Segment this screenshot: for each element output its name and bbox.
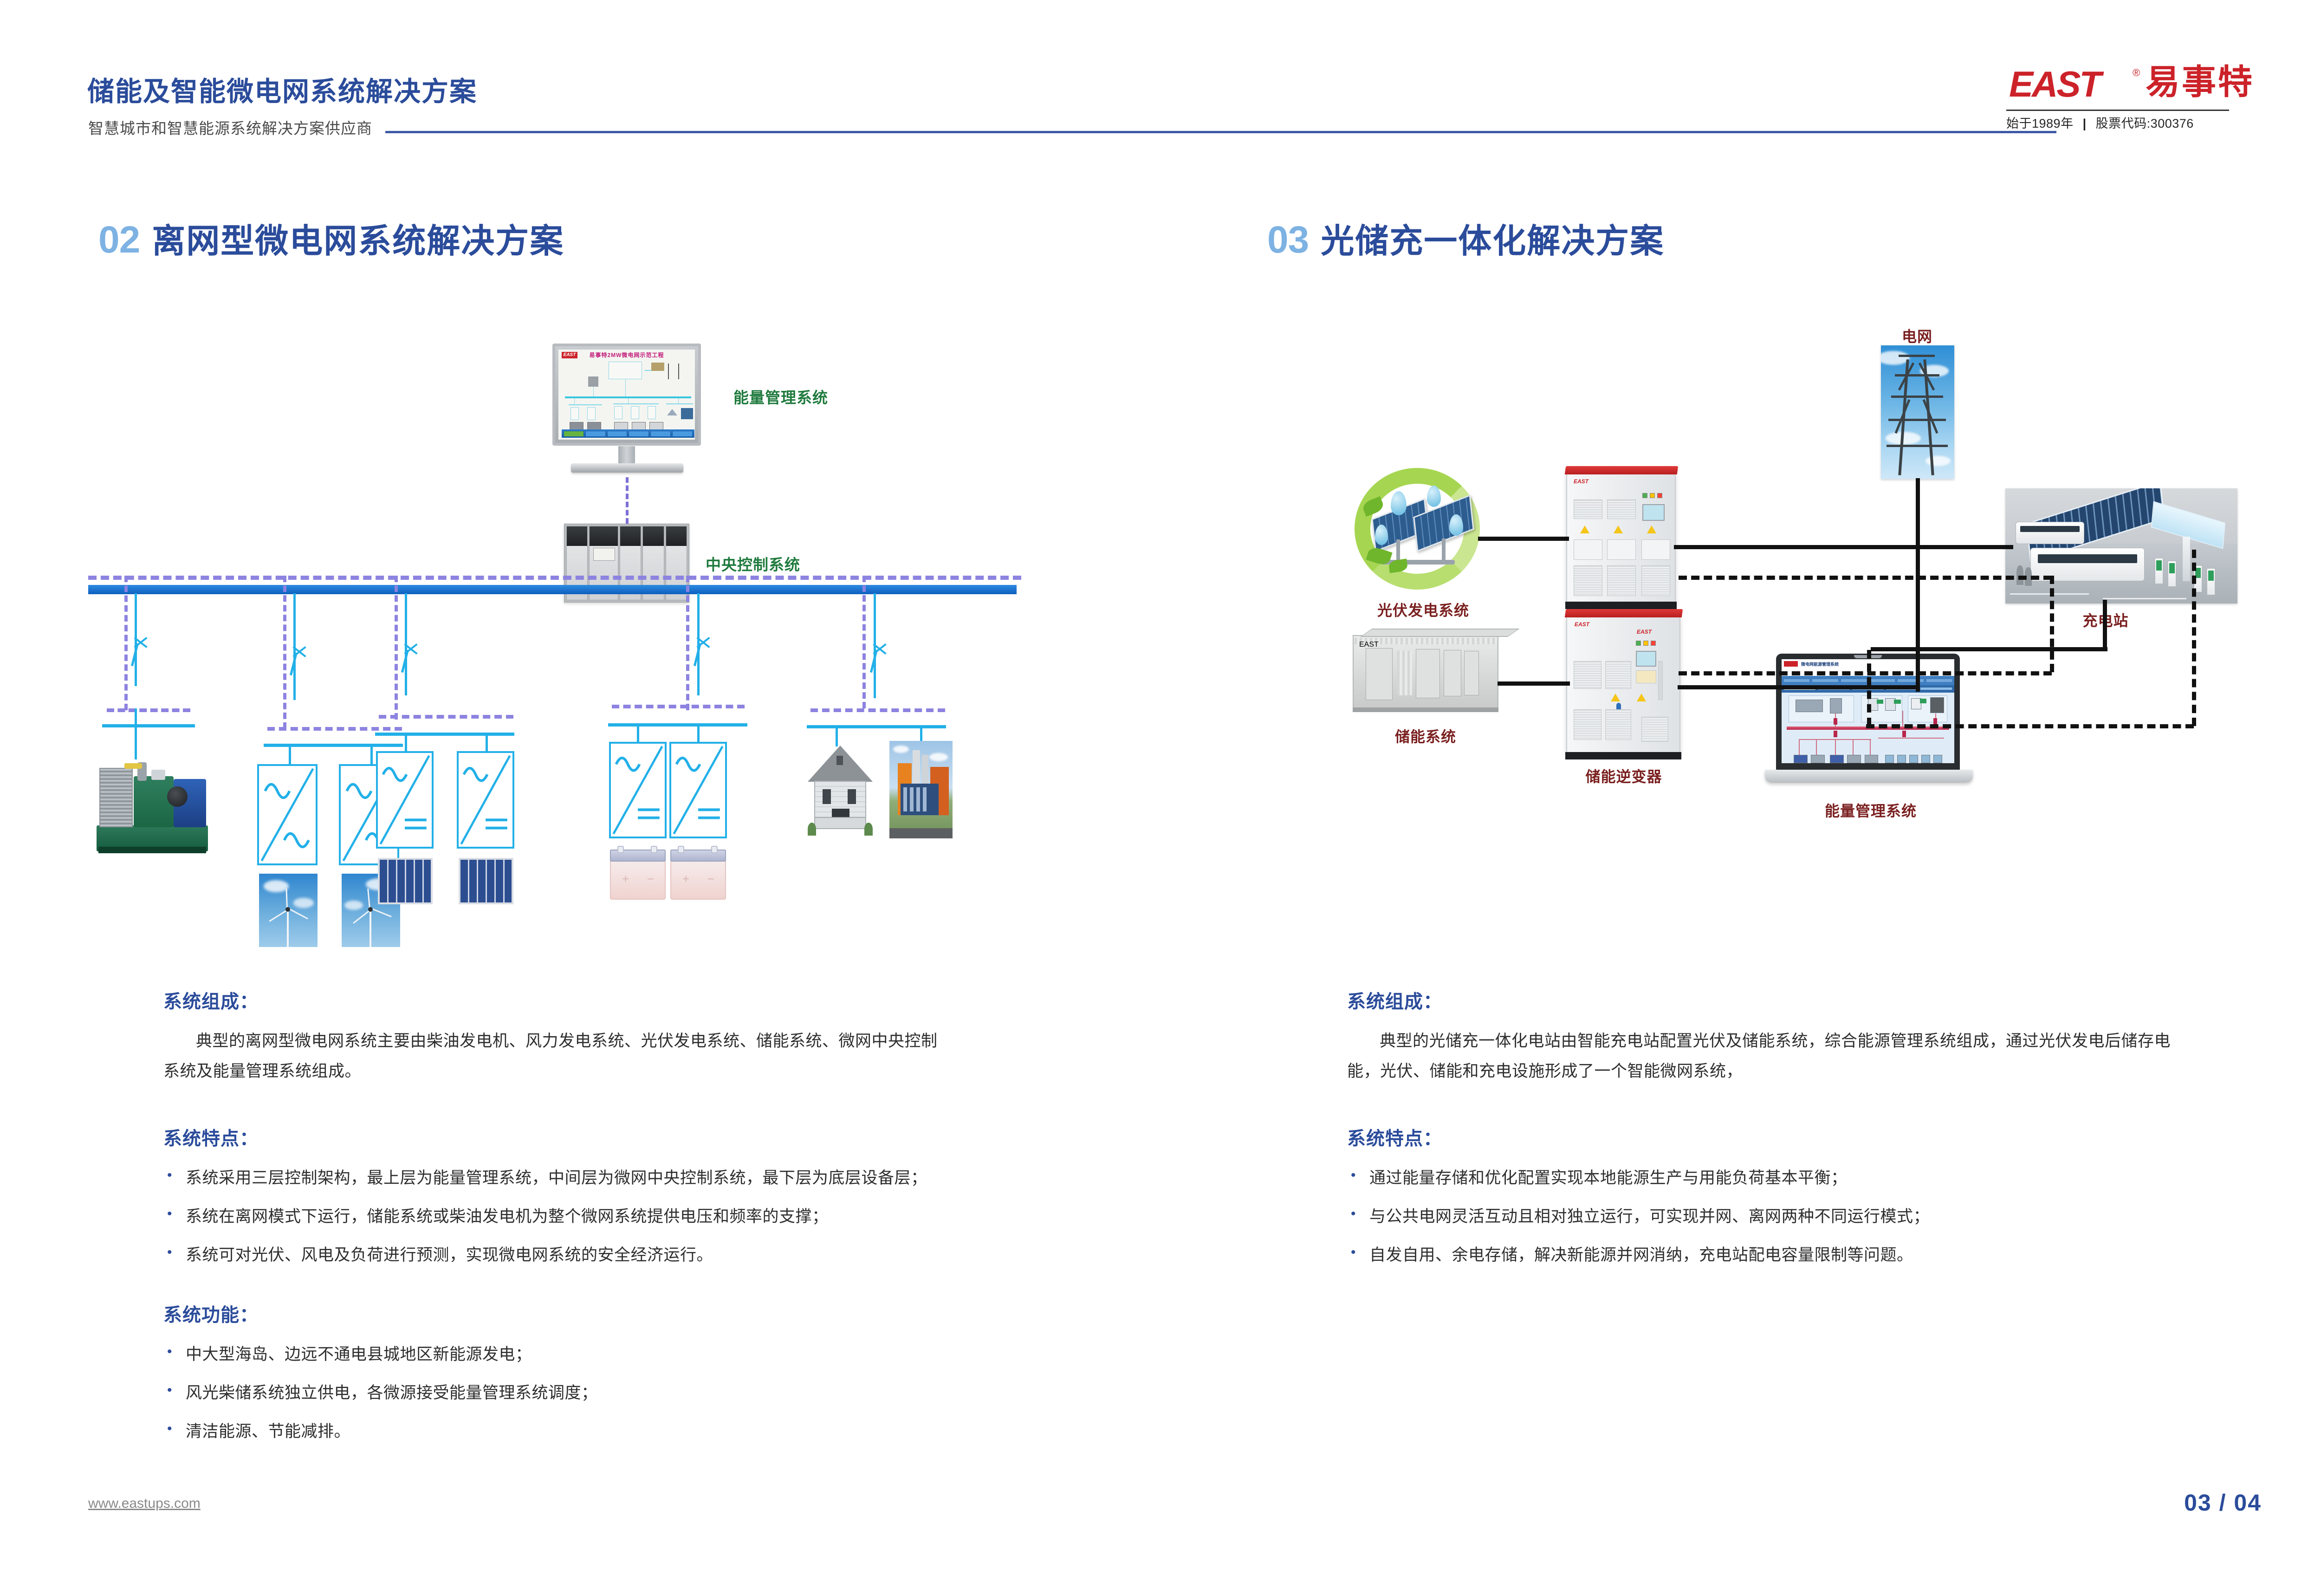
ems-charger-block bbox=[1897, 755, 1906, 763]
dcac-symbol bbox=[459, 753, 512, 847]
toolbar-button[interactable] bbox=[650, 431, 671, 437]
feature-list: 系统采用三层控制架构，最上层为能量管理系统，中间层为微网中央控制系统，最下层为底… bbox=[163, 1163, 962, 1270]
screen-house-icon bbox=[667, 409, 677, 415]
feeder-control-line bbox=[395, 576, 398, 720]
list-item: 通过能量存储和优化配置实现本地能源生产与用能负荷基本平衡； bbox=[1347, 1163, 2192, 1194]
pedestrian-figure bbox=[2016, 565, 2023, 585]
feature-list: 通过能量存储和优化配置实现本地能源生产与用能负荷基本平衡； 与公共电网灵活互动且… bbox=[1347, 1163, 2192, 1270]
block-paragraph: 典型的光储充一体化电站由智能充电站配置光伏及储能系统，综合能源管理系统组成，通过… bbox=[1347, 1026, 2183, 1087]
dcac-inverter bbox=[609, 742, 667, 838]
ems-load-block bbox=[1830, 755, 1844, 763]
ems-charger-block bbox=[1909, 755, 1918, 763]
feeder-power-line bbox=[135, 708, 137, 759]
cabinet-hmi-display[interactable] bbox=[1642, 504, 1665, 521]
list-item: 系统采用三层控制架构，最上层为能量管理系统，中间层为微网中央控制系统，最下层为底… bbox=[163, 1163, 962, 1194]
offgrid-microgrid-diagram: EAST 易事特2MW微电网示范工程 bbox=[88, 344, 1077, 863]
ems-breaker bbox=[1834, 718, 1837, 725]
feeder-control-line bbox=[124, 576, 128, 710]
screen-sub-busbar bbox=[613, 403, 659, 404]
section-label: 光储充一体化解决方案 bbox=[1321, 223, 1664, 260]
menu-item[interactable] bbox=[1926, 679, 1952, 682]
toolbar-button[interactable] bbox=[629, 431, 649, 437]
inverter-drop bbox=[405, 734, 407, 751]
left-composition-block: 系统组成： 典型的离网型微电网系统主要由柴油发电机、风力发电系统、光伏发电系统、… bbox=[163, 986, 953, 1087]
cabinet-brand-label: EAST bbox=[1637, 629, 1652, 635]
logo-wordmark: EAST bbox=[2009, 66, 2100, 102]
comm-line-laptop bbox=[1867, 650, 1871, 726]
cabinet-vent bbox=[1574, 500, 1602, 519]
cabinet-vent bbox=[1641, 565, 1670, 596]
sub-control-bus bbox=[267, 727, 402, 731]
ems-status-led bbox=[1920, 699, 1927, 703]
lane-stripe bbox=[2103, 598, 2186, 599]
screen-converter bbox=[571, 407, 579, 420]
function-list: 中大型海岛、边远不通电县城地区新能源发电； 风光柴储系统独立供电，各微源接受能量… bbox=[163, 1340, 860, 1447]
cabinet-handle[interactable] bbox=[1658, 661, 1663, 700]
list-item: 清洁能源、节能减排。 bbox=[163, 1417, 860, 1447]
ems-breaker bbox=[1902, 731, 1906, 737]
cabinet-plinth bbox=[1565, 602, 1677, 609]
list-item: 系统在离网模式下运行，储能系统或柴油发电机为整个微网系统提供电压和频率的支撑； bbox=[163, 1202, 962, 1232]
ems-device-block bbox=[1796, 700, 1823, 712]
cabinet-vent bbox=[1607, 565, 1636, 596]
sub-busbar bbox=[102, 724, 195, 727]
menu-item[interactable] bbox=[1812, 679, 1838, 682]
inverter-drop bbox=[486, 734, 488, 751]
cabinet-vent bbox=[1607, 500, 1636, 519]
list-item: 风光柴储系统独立供电，各微源接受能量管理系统调度； bbox=[163, 1378, 860, 1408]
logo-chinese-name: 易事特 bbox=[2146, 65, 2254, 99]
control-bus bbox=[88, 576, 1021, 580]
label-grid: 电网 bbox=[1889, 325, 1945, 346]
sub-busbar bbox=[608, 723, 747, 727]
page-subtitle: 智慧城市和智慧能源系统解决方案供应商 bbox=[88, 116, 372, 138]
container-brand-label: EAST bbox=[1359, 641, 1379, 649]
station-pillar bbox=[2183, 537, 2190, 581]
cabinet-door[interactable] bbox=[1607, 539, 1636, 560]
screen-converter bbox=[648, 406, 656, 419]
sub-control-bus bbox=[810, 708, 945, 712]
ess-inverter-ac-line bbox=[1678, 685, 1919, 689]
ems-feeder bbox=[1878, 738, 1944, 739]
screen-link bbox=[593, 387, 594, 396]
list-item: 自发自用、余电存储，解决新能源并网消纳，充电站配电容量限制等问题。 bbox=[1347, 1240, 2192, 1271]
cabinet-vent bbox=[1574, 661, 1601, 689]
grid-trunk-line bbox=[1916, 478, 1920, 692]
label-pv-system: 光伏发电系统 bbox=[1368, 599, 1479, 620]
block-heading: 系统组成： bbox=[1347, 986, 2183, 1013]
footer-website-link[interactable]: www.eastups.com bbox=[88, 1496, 201, 1512]
container-roof bbox=[1360, 629, 1520, 637]
container-door[interactable] bbox=[1366, 648, 1393, 700]
cabinet-door[interactable] bbox=[1574, 539, 1602, 560]
screen-toolbar bbox=[562, 429, 694, 438]
monitor-stand-base bbox=[571, 463, 683, 473]
ems-load-block bbox=[1865, 755, 1879, 763]
warning-triangle-icon bbox=[1580, 526, 1589, 533]
right-features-block: 系统特点： 通过能量存储和优化配置实现本地能源生产与用能负荷基本平衡； 与公共电… bbox=[1347, 1123, 2192, 1278]
inverter-drop bbox=[697, 725, 700, 742]
screen-factory-icon bbox=[681, 408, 693, 419]
menu-item[interactable] bbox=[1841, 679, 1867, 682]
charging-post bbox=[2207, 568, 2215, 595]
cabinet-plinth bbox=[1565, 752, 1681, 759]
section-label: 离网型微电网系统解决方案 bbox=[152, 223, 564, 260]
right-composition-block: 系统组成： 典型的光储充一体化电站由智能充电站配置光伏及储能系统，综合能源管理系… bbox=[1347, 986, 2183, 1087]
pv-module-photo bbox=[378, 858, 433, 904]
battery-illustration: + − bbox=[670, 846, 726, 900]
block-paragraph: 典型的离网型微电网系统主要由柴油发电机、风力发电系统、光伏发电系统、储能系统、微… bbox=[163, 1026, 953, 1087]
comm-line-ess bbox=[1679, 671, 2052, 675]
screen-link bbox=[574, 398, 575, 404]
dcac-inverter bbox=[669, 742, 727, 838]
screen-converter bbox=[614, 406, 622, 419]
cabinet-vent bbox=[1574, 709, 1601, 740]
dcac-symbol bbox=[611, 744, 665, 837]
comm-line-ems bbox=[1866, 724, 2194, 728]
screen-sub-busbar bbox=[569, 404, 602, 405]
toolbar-button[interactable] bbox=[672, 431, 693, 437]
cabinet-brand-label: EAST bbox=[1575, 621, 1589, 628]
screen-link bbox=[678, 398, 679, 403]
section-heading-03: 03光储充一体化解决方案 bbox=[1267, 214, 1664, 262]
feeder-switch[interactable] bbox=[696, 631, 720, 668]
cabinet-vent bbox=[1641, 717, 1668, 742]
laptop-base bbox=[1765, 770, 1973, 783]
label-ess-inverter: 储能逆变器 bbox=[1559, 765, 1689, 786]
comm-line-vertical bbox=[2050, 576, 2054, 672]
comm-line-charging bbox=[2192, 550, 2196, 726]
ems-status-led bbox=[1894, 700, 1901, 704]
menu-item[interactable] bbox=[1784, 679, 1809, 682]
cabinet-indicator-leds bbox=[1636, 641, 1656, 646]
grid-pylon-photo bbox=[1881, 345, 1954, 479]
menu-item[interactable] bbox=[1869, 679, 1895, 682]
lane-stripe bbox=[2010, 593, 2089, 595]
residential-load-icon bbox=[803, 746, 877, 838]
feeder-control-line bbox=[862, 576, 866, 708]
sub-control-bus bbox=[107, 708, 190, 712]
registered-trademark-icon: ® bbox=[2133, 67, 2140, 79]
block-heading: 系统特点： bbox=[163, 1123, 962, 1150]
wind-turbine-photo bbox=[259, 874, 318, 947]
ems-load-block bbox=[1794, 755, 1808, 763]
converter-drop bbox=[289, 746, 291, 764]
feeder-switch[interactable] bbox=[134, 631, 158, 668]
section-number: 02 bbox=[98, 219, 140, 261]
ems-charger-block bbox=[1885, 755, 1894, 763]
ems-load-block bbox=[1847, 755, 1861, 763]
ems-brand-logo bbox=[1784, 661, 1798, 667]
dcac-inverter bbox=[376, 751, 434, 849]
pv-inverter-cabinet: EAST bbox=[1566, 473, 1676, 603]
section-heading-02: 02离网型微电网系统解决方案 bbox=[98, 214, 564, 262]
list-item: 中大型海岛、边远不通电县城地区新能源发电； bbox=[163, 1340, 860, 1370]
ems-to-plc-link bbox=[626, 477, 629, 524]
inverter-drop bbox=[637, 725, 639, 742]
screen-link bbox=[628, 398, 629, 403]
cabinet-top-cap bbox=[1565, 609, 1683, 617]
acac-symbol bbox=[259, 766, 316, 863]
cabinet-vent bbox=[1605, 661, 1631, 689]
tab-item[interactable] bbox=[1920, 688, 1952, 690]
cabinet-panel[interactable] bbox=[1636, 670, 1656, 683]
load-drop bbox=[836, 727, 838, 746]
ems-charger-block bbox=[1921, 755, 1930, 763]
screen-converter bbox=[587, 407, 596, 420]
pv-inverter-ac-line bbox=[1674, 545, 1919, 549]
toolbar-button[interactable] bbox=[585, 431, 606, 437]
founded-year: 始于1989年 bbox=[2006, 117, 2074, 130]
warning-triangle-icon bbox=[1647, 526, 1656, 533]
cabinet-brand-label: EAST bbox=[1574, 478, 1588, 485]
screen-sub-busbar bbox=[666, 403, 693, 404]
monitor-bezel: EAST 易事特2MW微电网示范工程 bbox=[552, 344, 701, 446]
dcac-inverter bbox=[457, 751, 514, 849]
ems-breaker bbox=[1933, 718, 1937, 725]
toolbar-button[interactable] bbox=[564, 431, 584, 437]
toolbar-button[interactable] bbox=[607, 431, 628, 437]
label-ems: 能量管理系统 bbox=[733, 385, 828, 408]
feeder-control-line bbox=[283, 576, 286, 729]
container-louver bbox=[1397, 651, 1412, 695]
block-heading: 系统功能： bbox=[163, 1300, 860, 1327]
footer-page-number: 03 / 04 bbox=[2184, 1489, 2262, 1516]
pv-module-photo bbox=[459, 858, 513, 904]
ess-to-inverter-line bbox=[1498, 681, 1570, 686]
container-door[interactable] bbox=[1464, 651, 1479, 695]
cabinet-door[interactable] bbox=[1641, 539, 1670, 560]
feeder-switch[interactable] bbox=[292, 641, 317, 678]
sub-busbar bbox=[264, 744, 403, 747]
feeder-control-line bbox=[686, 576, 689, 710]
cabinet-indicator-leds bbox=[1642, 493, 1662, 498]
electric-bus bbox=[2016, 522, 2084, 544]
screen-photo-tile bbox=[651, 363, 664, 371]
block-heading: 系统特点： bbox=[1347, 1123, 2192, 1150]
charging-post bbox=[2168, 561, 2176, 587]
dcac-symbol bbox=[378, 753, 432, 847]
ess-inverter-cabinet: EAST EAST bbox=[1566, 616, 1680, 754]
industrial-load-icon bbox=[889, 741, 953, 838]
pv-storage-charging-diagram: 电网 光伏发电系统 EAST bbox=[1346, 325, 2256, 901]
ems-device-block bbox=[1830, 698, 1842, 714]
meta-separator: | bbox=[2083, 117, 2087, 130]
cabinet-hmi-display[interactable] bbox=[1636, 651, 1656, 667]
logo-meta: 始于1989年 | 股票代码:300376 bbox=[2006, 113, 2194, 131]
warning-triangle-icon bbox=[1614, 526, 1623, 533]
feeder-switch[interactable] bbox=[873, 638, 897, 675]
main-ac-busbar bbox=[88, 585, 1017, 594]
pv-generation-graphic bbox=[1346, 460, 1495, 599]
ess-container: EAST bbox=[1353, 625, 1506, 713]
cabinet-top-cap bbox=[1565, 466, 1679, 474]
page-title: 储能及智能微电网系统解决方案 bbox=[87, 70, 477, 109]
screen-converter bbox=[631, 406, 639, 419]
section-number: 03 bbox=[1267, 219, 1309, 261]
screen-pylon-icon bbox=[668, 363, 679, 379]
label-central-control: 中央控制系统 bbox=[706, 552, 800, 575]
warning-triangle-icon bbox=[1637, 694, 1646, 701]
page-header: 储能及智能微电网系统解决方案 智慧城市和智慧能源系统解决方案供应商 EAST ®… bbox=[0, 0, 2321, 153]
battery-illustration: + − bbox=[610, 846, 666, 900]
comm-line-pv bbox=[1679, 576, 2052, 580]
ems-status-led bbox=[1877, 700, 1884, 704]
company-logo: EAST ® 易事特 始于1989年 | 股票代码:300376 bbox=[2006, 65, 2285, 139]
list-item: 系统可对光伏、风电及负荷进行预测，实现微电网系统的安全经济运行。 bbox=[163, 1240, 962, 1271]
sub-control-bus bbox=[612, 705, 745, 708]
label-ems: 能量管理系统 bbox=[1816, 799, 1926, 821]
pv-to-inverter-line bbox=[1478, 537, 1569, 541]
sub-busbar bbox=[807, 725, 946, 728]
cabinet-vent bbox=[1605, 709, 1631, 740]
logo-divider bbox=[2006, 110, 2229, 111]
label-ess: 储能系统 bbox=[1381, 725, 1470, 746]
left-features-block: 系统特点： 系统采用三层控制架构，最上层为能量管理系统，中间层为微网中央控制系统… bbox=[163, 1123, 962, 1278]
monitor-screen: EAST 易事特2MW微电网示范工程 bbox=[558, 350, 695, 440]
warning-triangle-icon bbox=[1611, 694, 1620, 701]
ems-charger-block bbox=[1933, 755, 1942, 763]
ac-bus-line bbox=[1871, 647, 2107, 651]
monitor-stand-neck bbox=[618, 446, 635, 465]
stock-code: 股票代码:300376 bbox=[2096, 117, 2194, 130]
ems-breaker bbox=[1834, 731, 1837, 737]
header-divider bbox=[385, 131, 2056, 133]
screen-title: 易事特2MW微电网示范工程 bbox=[558, 351, 695, 359]
screen-link bbox=[625, 379, 626, 396]
left-functions-block: 系统功能： 中大型海岛、边远不通电县城地区新能源发电； 风光柴储系统独立供电，各… bbox=[163, 1300, 860, 1455]
cabinet-vent bbox=[1574, 565, 1602, 596]
screen-plc-icon bbox=[588, 376, 598, 387]
dcac-symbol bbox=[671, 744, 725, 837]
charging-post bbox=[2155, 558, 2163, 584]
sub-busbar bbox=[375, 733, 514, 736]
ems-load-block bbox=[1811, 755, 1825, 763]
diesel-generator bbox=[97, 760, 208, 858]
container-door[interactable] bbox=[1444, 650, 1461, 696]
block-heading: 系统组成： bbox=[163, 986, 953, 1013]
acac-converter bbox=[257, 764, 318, 865]
sub-control-bus bbox=[379, 715, 513, 719]
charging-station-drop-line bbox=[2103, 600, 2107, 650]
converter-drop bbox=[370, 746, 373, 764]
container-door[interactable] bbox=[1416, 649, 1440, 698]
ems-title: 微电网能源管理系统 bbox=[1801, 661, 1839, 667]
list-item: 与公共电网灵活互动且相对独立运行，可实现并网、离网两种不同运行模式； bbox=[1347, 1202, 2192, 1232]
ems-grid-block bbox=[1930, 697, 1944, 713]
charging-station-photo bbox=[2005, 488, 2237, 603]
screen-ems-box bbox=[609, 362, 642, 379]
feeder-switch[interactable] bbox=[404, 638, 428, 675]
grid-to-charging-line bbox=[1916, 545, 2013, 549]
